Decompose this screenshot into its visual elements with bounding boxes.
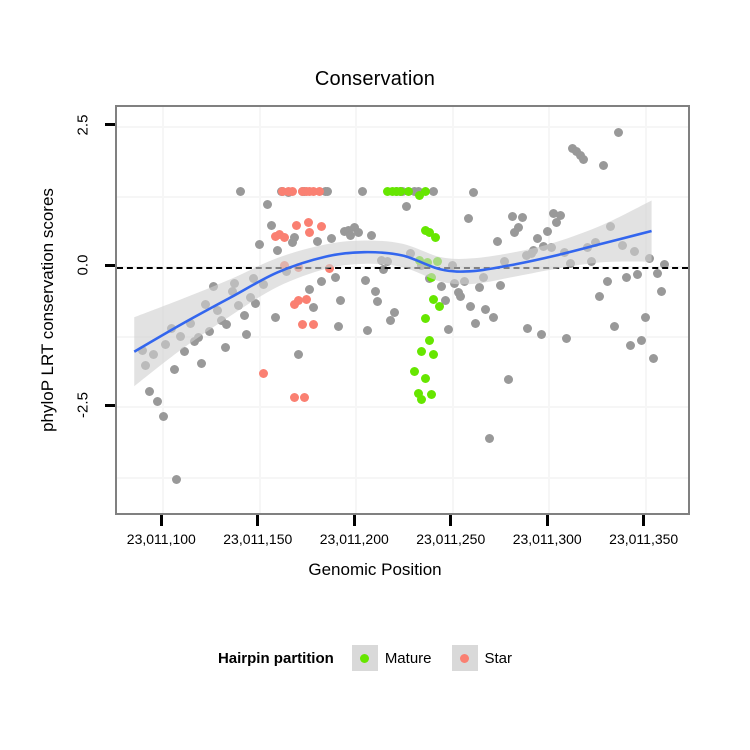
gridline-vertical — [162, 107, 164, 513]
data-point — [633, 270, 642, 279]
data-point — [290, 233, 299, 242]
gridline-horizontal — [117, 406, 688, 408]
data-point — [523, 324, 532, 333]
chart-root: Conservation 2.50.0-2.5 23,011,10023,011… — [0, 0, 750, 750]
gridline-vertical — [355, 107, 357, 513]
data-point — [626, 341, 635, 350]
gridline-horizontal — [117, 126, 688, 128]
data-point — [610, 322, 619, 331]
data-point — [176, 332, 185, 341]
data-point — [367, 231, 376, 240]
data-point — [317, 222, 326, 231]
data-point — [481, 305, 490, 314]
data-point — [437, 282, 446, 291]
data-point — [305, 285, 314, 294]
data-point — [197, 359, 206, 368]
data-point — [556, 211, 565, 220]
gridline-horizontal — [117, 196, 688, 198]
data-point — [304, 218, 313, 227]
data-point — [410, 367, 419, 376]
legend-dot-icon — [360, 654, 369, 663]
data-point — [290, 300, 299, 309]
data-point — [493, 237, 502, 246]
data-point — [475, 283, 484, 292]
data-point — [323, 187, 332, 196]
data-point — [433, 257, 442, 266]
data-point — [383, 257, 392, 266]
data-point — [471, 319, 480, 328]
data-point — [485, 434, 494, 443]
legend-item-label: Star — [485, 650, 513, 667]
data-point — [221, 343, 230, 352]
legend-swatch-mature-icon — [352, 645, 378, 671]
data-point — [145, 387, 154, 396]
data-point — [587, 257, 596, 266]
zero-line — [117, 267, 688, 269]
data-point — [194, 333, 203, 342]
plot-panel — [115, 105, 690, 515]
data-point — [595, 292, 604, 301]
data-point — [251, 299, 260, 308]
data-point — [504, 375, 513, 384]
data-point — [249, 274, 258, 283]
data-point — [309, 320, 318, 329]
data-point — [294, 350, 303, 359]
data-point — [180, 347, 189, 356]
y-axis-tick-label-wrap: 0.0 — [60, 257, 105, 273]
data-point — [209, 282, 218, 291]
data-point — [267, 221, 276, 230]
x-axis-tick — [642, 515, 645, 526]
legend-item-label: Mature — [385, 650, 432, 667]
legend-item-star[interactable]: Star — [452, 645, 513, 671]
y-axis-tick — [105, 123, 115, 126]
y-axis-tick-label-wrap: -2.5 — [60, 397, 105, 413]
data-point — [448, 261, 457, 270]
data-point — [138, 346, 147, 355]
data-point — [263, 200, 272, 209]
gridline-horizontal — [117, 477, 688, 479]
page-title: Conservation — [0, 68, 750, 91]
data-point — [579, 155, 588, 164]
data-point — [371, 287, 380, 296]
data-point — [271, 313, 280, 322]
data-point — [228, 287, 237, 296]
data-point — [429, 350, 438, 359]
data-point — [313, 237, 322, 246]
x-axis-tick-label: 23,011,350 — [584, 531, 704, 547]
x-axis-tick — [353, 515, 356, 526]
data-point — [649, 354, 658, 363]
data-point — [417, 395, 426, 404]
data-point — [302, 295, 311, 304]
data-point — [230, 279, 239, 288]
data-point — [141, 361, 150, 370]
data-point — [429, 187, 438, 196]
data-point — [529, 246, 538, 255]
data-point — [547, 243, 556, 252]
data-point — [205, 327, 214, 336]
data-point — [234, 301, 243, 310]
data-point — [630, 247, 639, 256]
data-point — [456, 292, 465, 301]
data-point — [331, 273, 340, 282]
data-point — [427, 390, 436, 399]
data-point — [431, 233, 440, 242]
data-point — [543, 227, 552, 236]
y-axis-tick — [105, 404, 115, 407]
data-point — [500, 257, 509, 266]
data-point — [460, 277, 469, 286]
legend: Hairpin partition MatureStar — [0, 643, 750, 673]
data-point — [290, 393, 299, 402]
data-point — [288, 187, 297, 196]
data-point — [213, 306, 222, 315]
data-point — [236, 187, 245, 196]
data-point — [562, 334, 571, 343]
data-point — [599, 161, 608, 170]
data-point — [317, 277, 326, 286]
data-point — [161, 340, 170, 349]
legend-title: Hairpin partition — [218, 650, 334, 667]
data-point — [170, 365, 179, 374]
y-axis-tick-label-wrap: 2.5 — [60, 117, 105, 133]
data-point — [153, 397, 162, 406]
data-point — [421, 314, 430, 323]
data-point — [622, 273, 631, 282]
data-point — [336, 296, 345, 305]
x-axis-tick — [449, 515, 452, 526]
data-point — [201, 300, 210, 309]
data-point — [386, 316, 395, 325]
data-point — [358, 187, 367, 196]
data-point — [421, 374, 430, 383]
data-point — [641, 313, 650, 322]
x-axis-title: Genomic Position — [0, 560, 750, 580]
data-point — [479, 273, 488, 282]
data-point — [373, 297, 382, 306]
y-axis-tick — [105, 264, 115, 267]
data-point — [657, 287, 666, 296]
data-point — [292, 221, 301, 230]
gridline-vertical — [548, 107, 550, 513]
data-point — [518, 213, 527, 222]
data-point — [606, 222, 615, 231]
data-point — [614, 128, 623, 137]
data-point — [415, 191, 424, 200]
confidence-band-area — [134, 200, 651, 386]
data-point — [172, 475, 181, 484]
data-point — [159, 412, 168, 421]
data-point — [537, 330, 546, 339]
data-point — [496, 281, 505, 290]
data-point — [149, 350, 158, 359]
data-point — [618, 241, 627, 250]
data-point — [298, 320, 307, 329]
data-point — [464, 214, 473, 223]
y-axis-tick-label: -2.5 — [75, 383, 91, 428]
data-point — [259, 280, 268, 289]
y-axis-title: phyloP LRT conservation scores — [38, 105, 62, 515]
data-point — [450, 279, 459, 288]
data-point — [327, 234, 336, 243]
data-point — [309, 303, 318, 312]
data-point — [417, 347, 426, 356]
data-point — [427, 273, 436, 282]
data-point — [466, 302, 475, 311]
data-point — [560, 248, 569, 257]
y-axis-tick-label: 2.5 — [75, 102, 91, 147]
data-point — [186, 319, 195, 328]
data-point — [334, 322, 343, 331]
x-axis-tick — [256, 515, 259, 526]
data-point — [489, 313, 498, 322]
legend-item-mature[interactable]: Mature — [352, 645, 432, 671]
data-point — [240, 311, 249, 320]
y-axis-tick-label: 0.0 — [75, 243, 91, 288]
legend-swatch-star-icon — [452, 645, 478, 671]
data-point — [255, 240, 264, 249]
data-point — [305, 228, 314, 237]
gridline-horizontal — [117, 336, 688, 338]
data-point — [300, 393, 309, 402]
data-point — [514, 223, 523, 232]
data-point — [354, 228, 363, 237]
data-point — [361, 276, 370, 285]
data-point — [167, 324, 176, 333]
data-point — [363, 326, 372, 335]
data-point — [259, 369, 268, 378]
data-point — [603, 277, 612, 286]
data-point — [637, 336, 646, 345]
data-point — [645, 254, 654, 263]
x-axis-tick — [546, 515, 549, 526]
gridline-vertical — [259, 107, 261, 513]
data-point — [390, 308, 399, 317]
data-point — [425, 336, 434, 345]
gridline-vertical — [645, 107, 647, 513]
data-point — [406, 249, 415, 258]
legend-dot-icon — [460, 654, 469, 663]
data-point — [404, 187, 413, 196]
data-point — [653, 269, 662, 278]
data-point — [508, 212, 517, 221]
data-point — [591, 238, 600, 247]
data-point — [435, 302, 444, 311]
gridline-vertical — [452, 107, 454, 513]
data-point — [222, 320, 231, 329]
x-axis-tick — [160, 515, 163, 526]
data-point — [402, 202, 411, 211]
data-point — [315, 187, 324, 196]
data-point — [273, 246, 282, 255]
data-point — [242, 330, 251, 339]
